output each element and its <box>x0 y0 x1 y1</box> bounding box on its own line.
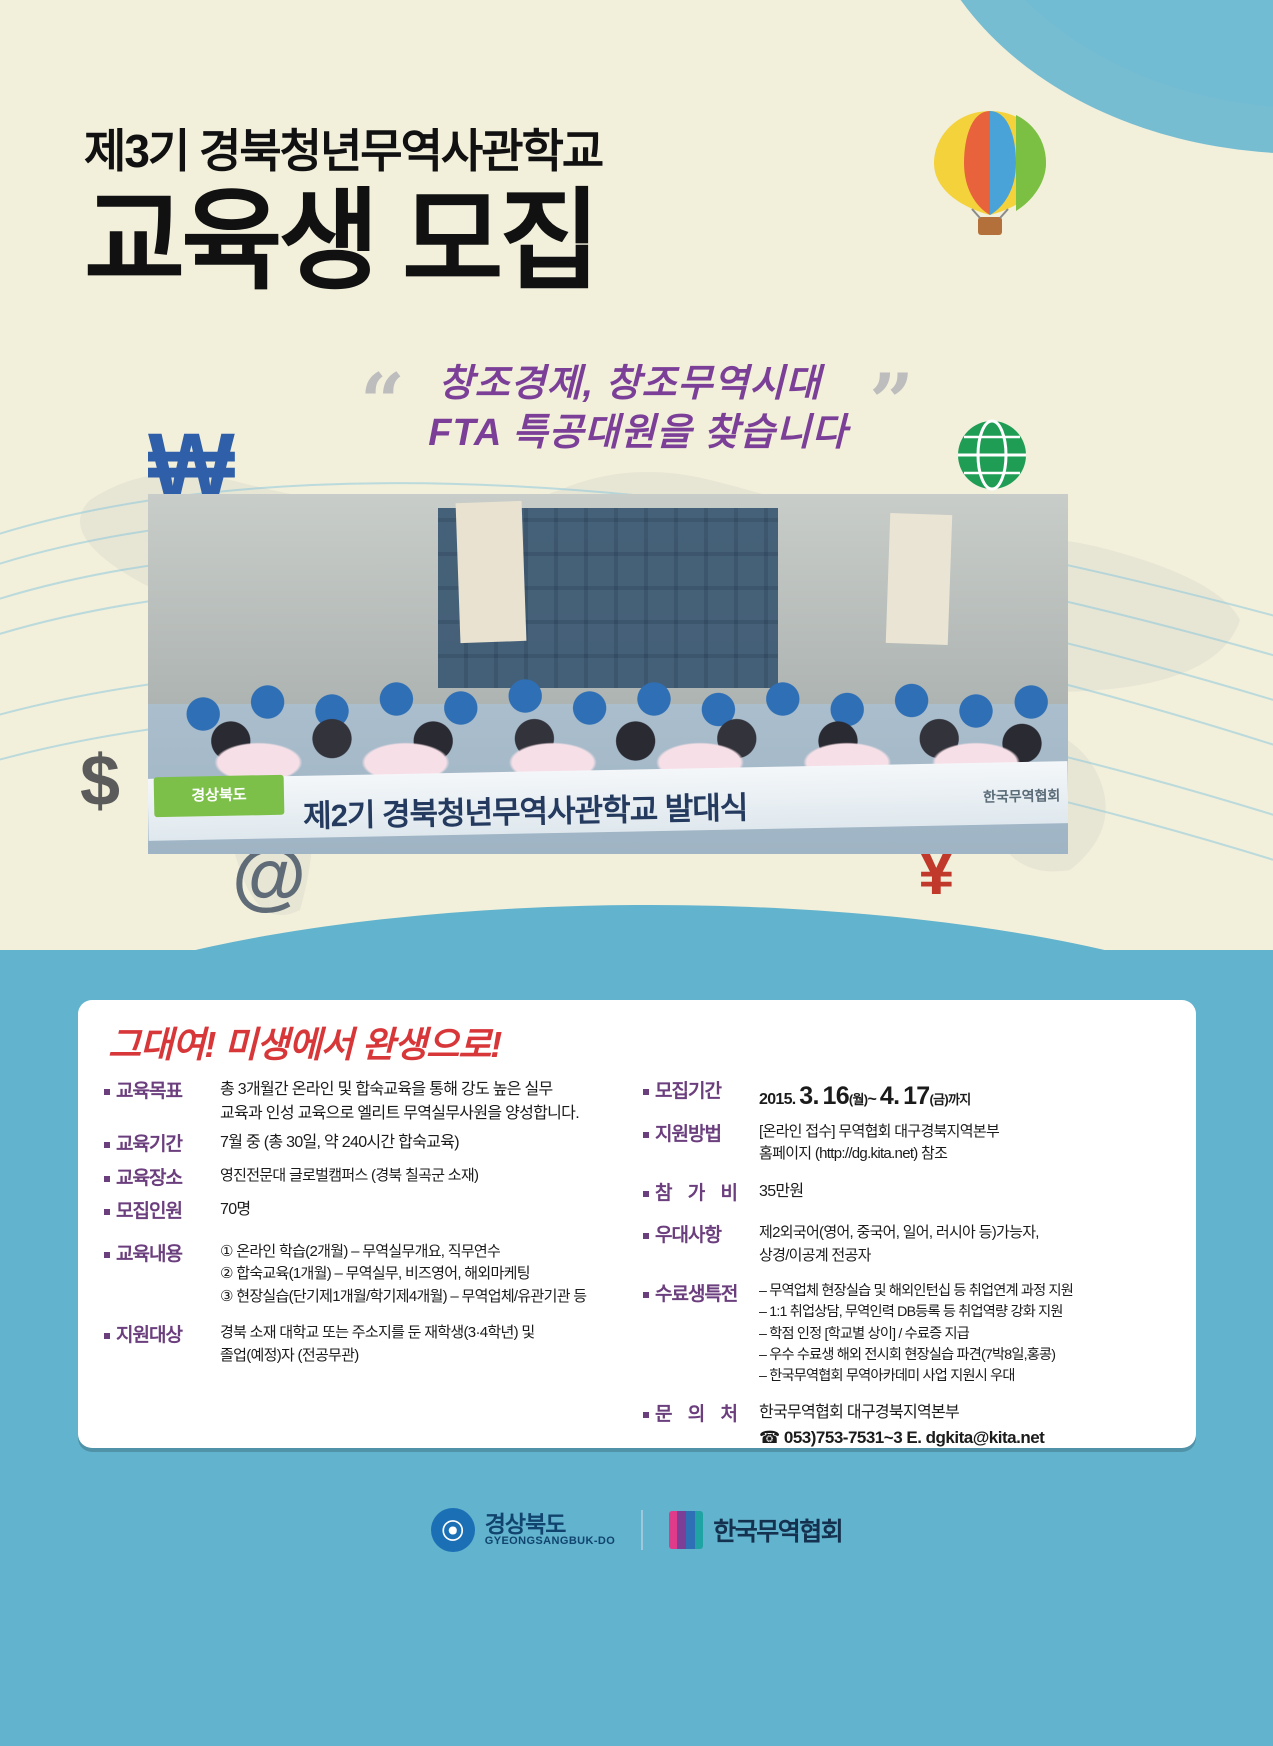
value-training-period: 7월 중 (총 30일, 약 240시간 합숙교육) <box>220 1131 633 1155</box>
value-recruit-period: 2015. 3. 16(월)~ 4. 17(금)까지 <box>759 1078 1172 1116</box>
photo-credit: 한국무역협회 <box>983 785 1061 806</box>
tagline-line-1: 창조경제, 창조무역시대 <box>360 360 900 409</box>
label-eligibility: 지원대상 <box>102 1322 220 1351</box>
label-training-period: 교육기간 <box>102 1131 220 1160</box>
info-row-goal: 교육목표 총 3개월간 온라인 및 합숙교육을 통해 강도 높은 실무 교육과 … <box>102 1078 633 1126</box>
kita-logo-text: 한국무역협회 <box>713 1512 842 1548</box>
label-recruit-period: 모집기간 <box>641 1078 759 1107</box>
kita-logo: 한국무역협회 <box>669 1511 842 1549</box>
label-goal: 교육목표 <box>102 1078 220 1107</box>
value-fee: 35만원 <box>759 1180 1172 1204</box>
recruit-end-day: 17 <box>903 1082 929 1110</box>
label-contact: 문 의 처 <box>641 1401 759 1430</box>
value-curriculum: ① 온라인 학습(2개월) – 무역실무개요, 직무연수 ② 합숙교육(1개월)… <box>220 1241 633 1309</box>
value-eligibility-line-1: 경북 소재 대학교 또는 주소지를 둔 재학생(3·4학년) 및 <box>220 1322 633 1345</box>
ceremony-photo: 경상북도 제2기 경북청년무역사관학교 발대식 한국무역협회 <box>148 494 1068 854</box>
globe-icon <box>955 418 1029 492</box>
card-left-column: 교육목표 총 3개월간 온라인 및 합숙교육을 통해 강도 높은 실무 교육과 … <box>102 1078 633 1456</box>
info-row-quota: 모집인원 70명 <box>102 1198 633 1227</box>
info-row-period: 교육기간 7월 중 (총 30일, 약 240시간 합숙교육) <box>102 1131 633 1160</box>
value-location-line-1: 영진전문대 글로벌캠퍼스 (경북 칠곡군 소재) <box>220 1165 633 1188</box>
photo-banner-left <box>456 501 527 643</box>
info-row-location: 교육장소 영진전문대 글로벌캠퍼스 (경북 칠곡군 소재) <box>102 1165 633 1194</box>
quote-close-icon: ” <box>869 364 914 442</box>
value-how-to-apply-line-2[interactable]: 홈페이지 (http://dg.kita.net) 참조 <box>759 1143 1172 1166</box>
gb-logo-english: GYEONGSANGBUK-DO <box>485 1536 615 1548</box>
value-fee-line-1: 35만원 <box>759 1180 1172 1204</box>
info-card: 그대여! 미생에서 완생으로! 교육목표 총 3개월간 온라인 및 합숙교육을 … <box>78 1000 1196 1448</box>
card-title: 그대여! 미생에서 완생으로! <box>108 1016 501 1068</box>
gb-logo-text: 경상북도 GYEONGSANGBUK-DO <box>485 1512 615 1548</box>
poster-root: 제3기 경북청년무역사관학교 교육생 모집 “ ” 창조경제, 창조무역시대 F… <box>0 0 1273 1746</box>
value-benefits-line-4: – 우수 수료생 해외 전시회 현장실습 파견(7박8일,홍콩) <box>759 1345 1172 1366</box>
info-row-eligibility: 지원대상 경북 소재 대학교 또는 주소지를 둔 재학생(3·4학년) 및 졸업… <box>102 1322 633 1367</box>
label-benefits: 수료생특전 <box>641 1281 759 1310</box>
value-curriculum-line-2: ② 합숙교육(1개월) – 무역실무, 비즈영어, 해외마케팅 <box>220 1263 633 1286</box>
value-how-to-apply: [온라인 접수] 무역협회 대구경북지역본부 홈페이지 (http://dg.k… <box>759 1121 1172 1166</box>
tagline-block: “ ” 창조경제, 창조무역시대 FTA 특공대원을 찾습니다 <box>360 360 900 457</box>
value-quota-line-1: 70명 <box>220 1198 633 1222</box>
recruit-end-dow: (금)까지 <box>929 1092 970 1107</box>
info-row-contact: 문 의 처 한국무역협회 대구경북지역본부 ☎ 053)753-7531~3 E… <box>641 1401 1172 1451</box>
value-location: 영진전문대 글로벌캠퍼스 (경북 칠곡군 소재) <box>220 1165 633 1188</box>
info-row-how-to-apply: 지원방법 [온라인 접수] 무역협회 대구경북지역본부 홈페이지 (http:/… <box>641 1121 1172 1166</box>
recruit-period-text: 2015. 3. 16(월)~ 4. 17(금)까지 <box>759 1091 971 1108</box>
headline-subtitle: 제3기 경북청년무역사관학교 <box>84 128 844 174</box>
value-curriculum-line-3: ③ 현장실습(단기제1개월/학기제4개월) – 무역업체/유관기관 등 <box>220 1286 633 1309</box>
value-curriculum-line-1: ① 온라인 학습(2개월) – 무역실무개요, 직무연수 <box>220 1241 633 1264</box>
label-preference: 우대사항 <box>641 1222 759 1251</box>
recruit-start-day: 16 <box>823 1082 849 1110</box>
card-right-column: 모집기간 2015. 3. 16(월)~ 4. 17(금)까지 지원방법 [온라… <box>641 1078 1172 1456</box>
info-row-recruit-period: 모집기간 2015. 3. 16(월)~ 4. 17(금)까지 <box>641 1078 1172 1116</box>
kita-logo-mark-icon <box>669 1511 703 1549</box>
hot-air-balloon-icon <box>920 105 1060 255</box>
quote-open-icon: “ <box>360 364 405 442</box>
value-contact-phone[interactable]: ☎ 053)753-7531~3 E. dgkita@kita.net <box>759 1425 1172 1451</box>
recruit-start-month: 3. <box>799 1082 818 1110</box>
value-contact-org: 한국무역협회 대구경북지역본부 <box>759 1401 1172 1425</box>
tagline-line-2: FTA 특공대원을 찾습니다 <box>376 409 900 458</box>
headline-title: 교육생 모집 <box>84 180 844 303</box>
value-goal: 총 3개월간 온라인 및 합숙교육을 통해 강도 높은 실무 교육과 인성 교육… <box>220 1078 633 1126</box>
label-curriculum: 교육내용 <box>102 1241 220 1270</box>
footer-logos: ⦿ 경상북도 GYEONGSANGBUK-DO 한국무역협회 <box>0 1480 1273 1580</box>
value-quota: 70명 <box>220 1198 633 1222</box>
value-how-to-apply-line-1: [온라인 접수] 무역협회 대구경북지역본부 <box>759 1121 1172 1144</box>
info-row-preference: 우대사항 제2외국어(영어, 중국어, 일어, 러시아 등)가능자, 상경/이공… <box>641 1222 1172 1267</box>
value-preference-line-2: 상경/이공계 전공자 <box>759 1245 1172 1268</box>
value-eligibility: 경북 소재 대학교 또는 주소지를 둔 재학생(3·4학년) 및 졸업(예정)자… <box>220 1322 633 1367</box>
label-how-to-apply: 지원방법 <box>641 1121 759 1150</box>
recruit-year: 2015. <box>759 1091 796 1108</box>
value-contact: 한국무역협회 대구경북지역본부 ☎ 053)753-7531~3 E. dgki… <box>759 1401 1172 1451</box>
photo-ribbon-gb-logo: 경상북도 <box>154 775 285 817</box>
gb-logo-mark-icon: ⦿ <box>431 1508 475 1552</box>
value-benefits-line-3: – 학점 인정 [학교별 상이] / 수료증 지급 <box>759 1324 1172 1345</box>
value-benefits-line-2: – 1:1 취업상담, 무역인력 DB등록 등 취업역량 강화 지원 <box>759 1302 1172 1323</box>
value-eligibility-line-2: 졸업(예정)자 (전공무관) <box>220 1345 633 1368</box>
value-preference-line-1: 제2외국어(영어, 중국어, 일어, 러시아 등)가능자, <box>759 1222 1172 1245</box>
headline-block: 제3기 경북청년무역사관학교 교육생 모집 <box>84 128 844 303</box>
gb-logo-korean: 경상북도 <box>485 1512 615 1536</box>
value-preference: 제2외국어(영어, 중국어, 일어, 러시아 등)가능자, 상경/이공계 전공자 <box>759 1222 1172 1267</box>
label-fee: 참 가 비 <box>641 1180 759 1209</box>
value-benefits-line-5: – 한국무역협회 무역아카데미 사업 지원시 우대 <box>759 1366 1172 1387</box>
label-location: 교육장소 <box>102 1165 220 1194</box>
info-row-benefits: 수료생특전 – 무역업체 현장실습 및 해외인턴십 등 취업연계 과정 지원 –… <box>641 1281 1172 1387</box>
value-goal-line-2: 교육과 인성 교육으로 엘리트 무역실무사원을 양성합니다. <box>220 1102 633 1126</box>
info-row-curriculum: 교육내용 ① 온라인 학습(2개월) – 무역실무개요, 직무연수 ② 합숙교육… <box>102 1241 633 1309</box>
gyeongsangbuk-do-logo: ⦿ 경상북도 GYEONGSANGBUK-DO <box>431 1508 615 1552</box>
info-row-fee: 참 가 비 35만원 <box>641 1180 1172 1209</box>
recruit-range: ~ <box>867 1091 876 1108</box>
dollar-currency-icon: $ <box>80 745 120 817</box>
label-quota: 모집인원 <box>102 1198 220 1227</box>
value-goal-line-1: 총 3개월간 온라인 및 합숙교육을 통해 강도 높은 실무 <box>220 1078 633 1102</box>
card-columns: 교육목표 총 3개월간 온라인 및 합숙교육을 통해 강도 높은 실무 교육과 … <box>102 1078 1172 1456</box>
footer-divider <box>641 1510 643 1550</box>
value-benefits: – 무역업체 현장실습 및 해외인턴십 등 취업연계 과정 지원 – 1:1 취… <box>759 1281 1172 1387</box>
value-training-period-line-1: 7월 중 (총 30일, 약 240시간 합숙교육) <box>220 1131 633 1155</box>
value-benefits-line-1: – 무역업체 현장실습 및 해외인턴십 등 취업연계 과정 지원 <box>759 1281 1172 1302</box>
recruit-start-dow: (월) <box>849 1092 868 1107</box>
recruit-end-month: 4. <box>880 1082 899 1110</box>
